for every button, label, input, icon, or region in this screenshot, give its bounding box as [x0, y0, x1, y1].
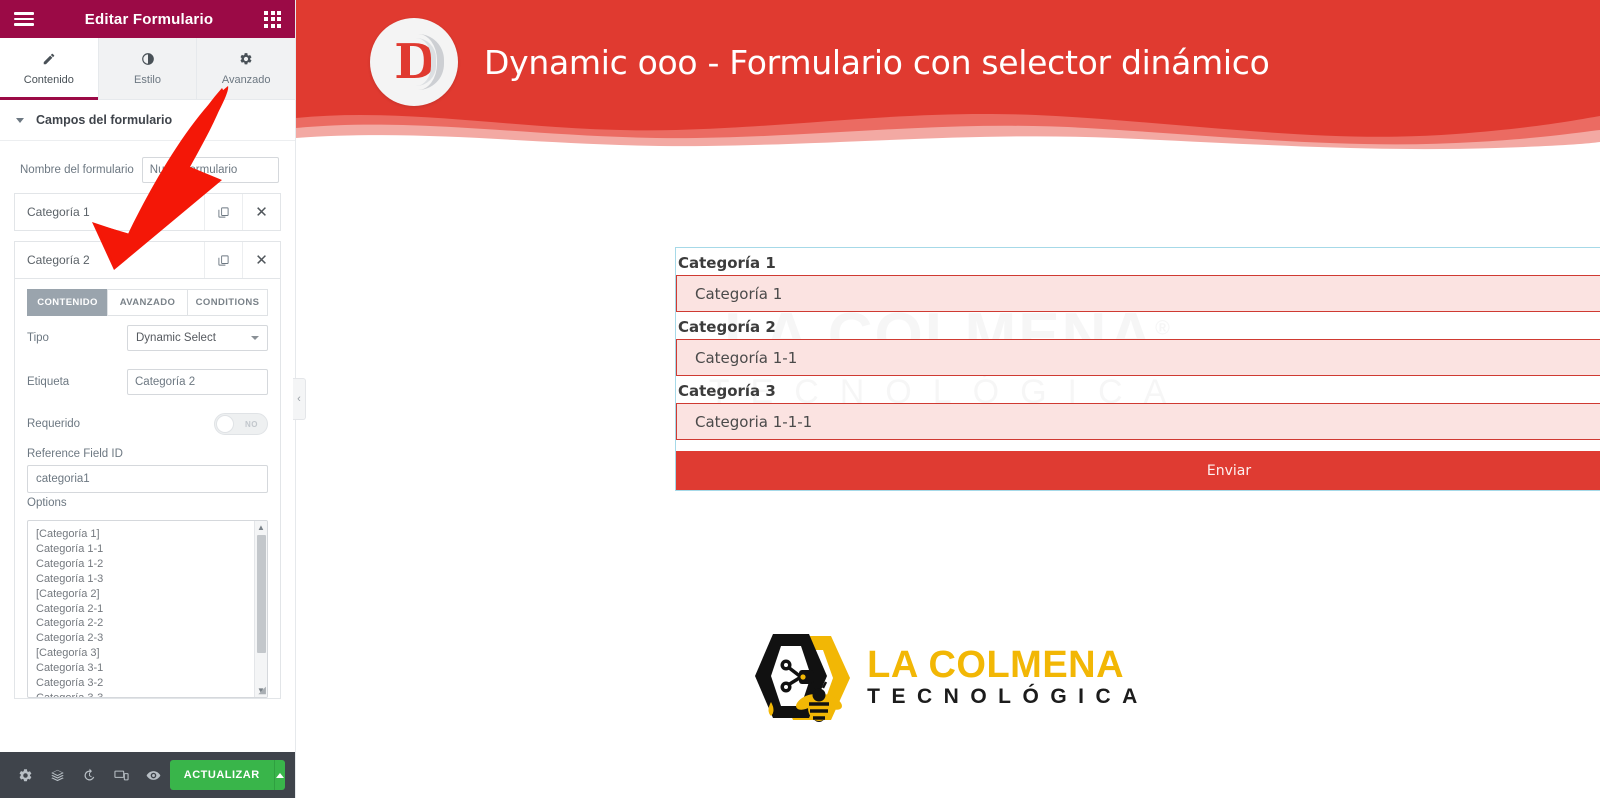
option-line: Categoría 2-2	[36, 616, 259, 631]
option-line: Categoría 3-2	[36, 676, 259, 691]
pencil-icon	[42, 52, 56, 68]
section-campos-del-formulario[interactable]: Campos del formulario	[0, 100, 295, 141]
option-line: Categoría 2-3	[36, 631, 259, 646]
option-line: Categoría 1-3	[36, 572, 259, 587]
subtab-contenido[interactable]: CONTENIDO	[27, 289, 107, 316]
panel-title: Editar Formulario	[34, 11, 264, 28]
field-subtabs: CONTENIDO AVANZADO CONDITIONS	[15, 279, 280, 316]
tipo-select-value: Dynamic Select	[136, 332, 216, 344]
requerido-label: Requerido	[27, 418, 119, 430]
option-line: [Categoría 1]	[36, 527, 259, 542]
fields-repeater: Categoría 1 ✕ Categoría 2 ✕ CONTENIDO	[0, 193, 295, 699]
dynamic-select-3[interactable]: Categoria 1-1-1	[676, 403, 1600, 440]
brand-footer: LA COLMENA TECNOLÓGICA	[296, 630, 1600, 726]
dynamic-select-2[interactable]: Categoría 1-1	[676, 339, 1600, 376]
scroll-up-icon[interactable]: ▲	[257, 521, 265, 534]
tipo-select[interactable]: Dynamic Select	[127, 325, 268, 351]
repeater-item-title[interactable]: Categoría 2	[15, 242, 204, 278]
dynamic-select-1[interactable]: Categoría 1	[676, 275, 1600, 312]
field-label-1: Categoría 1	[676, 248, 1600, 275]
options-label: Options	[15, 493, 280, 514]
site-title: Dynamic ooo - Formulario con selector di…	[484, 43, 1269, 82]
chevron-up-icon[interactable]	[274, 760, 285, 790]
brand-line-2: TECNOLÓGICA	[867, 684, 1149, 710]
repeater-item-title[interactable]: Categoría 1	[15, 194, 204, 230]
etiqueta-row: Etiqueta	[15, 360, 280, 404]
option-line: Categoría 2-1	[36, 602, 259, 617]
elementor-editor-screen: Editar Formulario Contenido Estilo	[0, 0, 1600, 798]
subtab-conditions[interactable]: CONDITIONS	[187, 289, 268, 316]
options-scrollbar[interactable]: ▲ ▼	[254, 521, 267, 697]
etiqueta-input[interactable]	[128, 370, 268, 394]
update-button-group: ACTUALIZAR	[170, 760, 285, 790]
close-icon[interactable]: ✕	[242, 242, 280, 278]
field-group-1: Categoría 1 Categoría 1	[676, 248, 1600, 312]
contrast-circle-icon	[141, 52, 155, 68]
reference-field-label: Reference Field ID	[15, 444, 280, 465]
section-title: Campos del formulario	[36, 113, 172, 127]
toggle-knob	[216, 415, 234, 433]
eye-icon[interactable]	[138, 752, 170, 798]
form-name-label: Nombre del formulario	[20, 164, 134, 176]
editor-panel: Editar Formulario Contenido Estilo	[0, 0, 296, 798]
options-list[interactable]: [Categoría 1] Categoría 1-1 Categoría 1-…	[28, 521, 267, 697]
requerido-toggle[interactable]: NO	[214, 413, 268, 435]
tab-contenido[interactable]: Contenido	[0, 38, 99, 99]
site-header: D Dynamic ooo - Formulario con selector …	[296, 0, 1600, 152]
etiqueta-label: Etiqueta	[27, 376, 119, 388]
brand-wordmark: LA COLMENA TECNOLÓGICA	[867, 646, 1149, 710]
option-line: Categoría 1-2	[36, 557, 259, 572]
tab-estilo-label: Estilo	[134, 74, 161, 86]
dynamic-select-1-value: Categoría 1	[695, 285, 782, 303]
scrollbar-thumb[interactable]	[257, 535, 266, 653]
submit-button[interactable]: Enviar	[676, 451, 1600, 490]
field-label-2: Categoría 2	[676, 312, 1600, 339]
hive-bee-logo-icon	[747, 630, 855, 726]
repeater-item-categoria-2[interactable]: Categoría 2 ✕	[14, 241, 281, 279]
history-icon[interactable]	[74, 752, 106, 798]
field-group-2: Categoría 2 Categoría 1-1	[676, 312, 1600, 376]
header-wave-shape	[296, 104, 1600, 152]
panel-collapse-toggle[interactable]: ‹	[293, 378, 306, 420]
option-line: [Categoría 3]	[36, 646, 259, 661]
tab-avanzado-label: Avanzado	[222, 74, 271, 86]
panel-footer: ACTUALIZAR	[0, 752, 295, 798]
gear-icon	[239, 52, 253, 68]
responsive-icon[interactable]	[106, 752, 138, 798]
form-name-row: Nombre del formulario	[0, 141, 295, 193]
close-icon[interactable]: ✕	[242, 194, 280, 230]
tab-avanzado[interactable]: Avanzado	[197, 38, 295, 99]
subtab-avanzado[interactable]: AVANZADO	[107, 289, 187, 316]
dynamic-select-2-value: Categoría 1-1	[695, 349, 797, 367]
requerido-row: Requerido NO	[15, 404, 280, 444]
panel-header: Editar Formulario	[0, 0, 295, 38]
option-line: Categoría 3-1	[36, 661, 259, 676]
field-group-3: Categoría 3 Categoria 1-1-1	[676, 376, 1600, 440]
panel-tabs: Contenido Estilo Avanzado	[0, 38, 295, 100]
preview-canvas: D Dynamic ooo - Formulario con selector …	[296, 0, 1600, 798]
brand-line-1: LA COLMENA	[867, 646, 1149, 684]
options-textarea[interactable]: [Categoría 1] Categoría 1-1 Categoría 1-…	[27, 520, 268, 698]
layers-icon[interactable]	[42, 752, 74, 798]
etiqueta-input-group	[127, 369, 268, 395]
tipo-label: Tipo	[27, 332, 119, 344]
gear-icon[interactable]	[10, 752, 42, 798]
tipo-row: Tipo Dynamic Select	[15, 316, 280, 360]
chevron-down-icon	[251, 336, 259, 340]
reference-field-input[interactable]	[27, 465, 268, 493]
copy-icon[interactable]	[204, 242, 242, 278]
dynamic-form-widget[interactable]: Categoría 1 Categoría 1 Categoría 2 Cate…	[675, 247, 1600, 491]
dynamic-logo-icon: D	[370, 18, 458, 106]
resize-grip-icon[interactable]: ◢	[258, 685, 266, 696]
copy-icon[interactable]	[204, 194, 242, 230]
update-button[interactable]: ACTUALIZAR	[170, 760, 274, 790]
option-line: [Categoría 2]	[36, 587, 259, 602]
form-name-input[interactable]	[143, 158, 279, 182]
tab-estilo[interactable]: Estilo	[99, 38, 198, 99]
form-name-input-group	[142, 157, 279, 183]
panel-body: Nombre del formulario Categoría 1 ✕	[0, 141, 295, 752]
requerido-toggle-state: NO	[245, 420, 258, 429]
hamburger-menu-icon[interactable]	[14, 12, 34, 26]
tab-contenido-label: Contenido	[24, 74, 74, 86]
field-label-3: Categoría 3	[676, 376, 1600, 403]
apps-grid-icon[interactable]	[264, 11, 281, 28]
repeater-item-editor: CONTENIDO AVANZADO CONDITIONS Tipo Dynam…	[14, 279, 281, 699]
option-line: Categoría 1-1	[36, 542, 259, 557]
dynamic-select-3-value: Categoria 1-1-1	[695, 413, 812, 431]
repeater-item-categoria-1[interactable]: Categoría 1 ✕	[14, 193, 281, 231]
chevron-down-icon	[16, 118, 24, 123]
option-line: Categoría 3-3	[36, 691, 259, 697]
